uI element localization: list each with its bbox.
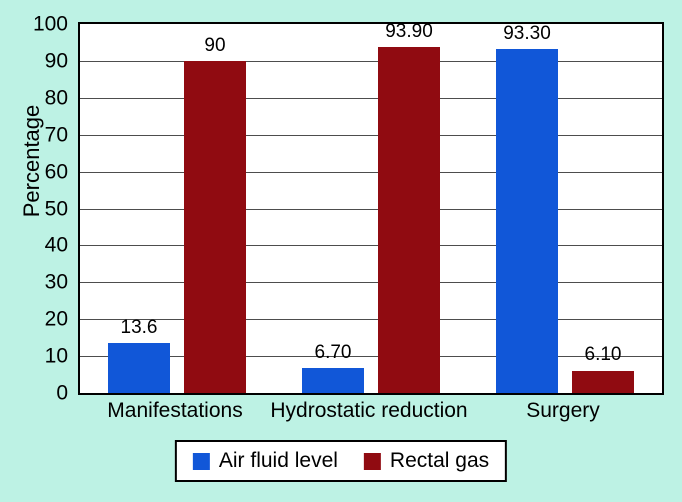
bar: [184, 61, 246, 393]
legend-swatch-icon: [364, 453, 381, 470]
bar-value-label: 13.6: [88, 317, 190, 339]
legend-label: Rectal gas: [390, 449, 489, 473]
legend-label: Air fluid level: [219, 449, 338, 473]
gridline: [80, 172, 662, 173]
bar: [108, 343, 170, 393]
gridline: [80, 245, 662, 246]
gridline: [80, 209, 662, 210]
bar-value-label: 90: [164, 35, 266, 57]
bar-value-label: 6.70: [282, 342, 384, 364]
y-axis-tick-label: 80: [45, 87, 68, 108]
y-axis-tick-label: 20: [45, 309, 68, 330]
gridline: [80, 61, 662, 62]
legend-item: Rectal gas: [364, 449, 489, 473]
bar-value-label: 6.10: [552, 344, 654, 366]
plot-area: 13.6906.7093.9093.306.10: [78, 22, 664, 395]
y-axis-tick-label: 100: [33, 14, 68, 35]
bar: [378, 47, 440, 393]
bar: [572, 371, 634, 394]
y-axis-tick-label: 50: [45, 198, 68, 219]
legend: Air fluid levelRectal gas: [175, 440, 507, 482]
legend-item: Air fluid level: [193, 449, 338, 473]
bar: [302, 368, 364, 393]
bar-chart: Percentage 0102030405060708090100 13.690…: [0, 0, 682, 502]
y-axis-tick-label: 60: [45, 161, 68, 182]
x-axis-tick-labels: ManifestationsHydrostatic reductionSurge…: [78, 399, 664, 429]
gridline: [80, 282, 662, 283]
gridline: [80, 98, 662, 99]
y-axis-tick-label: 10: [45, 346, 68, 367]
y-axis-tick-label: 70: [45, 124, 68, 145]
y-axis-tick-label: 40: [45, 235, 68, 256]
y-axis-tick-label: 30: [45, 272, 68, 293]
x-axis-tick-label: Surgery: [446, 399, 680, 423]
legend-swatch-icon: [193, 453, 210, 470]
bar: [496, 49, 558, 393]
bar-value-label: 93.30: [476, 23, 578, 45]
bar-value-label: 93.90: [358, 21, 460, 43]
y-axis-tick-label: 90: [45, 50, 68, 71]
y-axis-tick-labels: 0102030405060708090100: [14, 22, 68, 395]
gridline: [80, 135, 662, 136]
